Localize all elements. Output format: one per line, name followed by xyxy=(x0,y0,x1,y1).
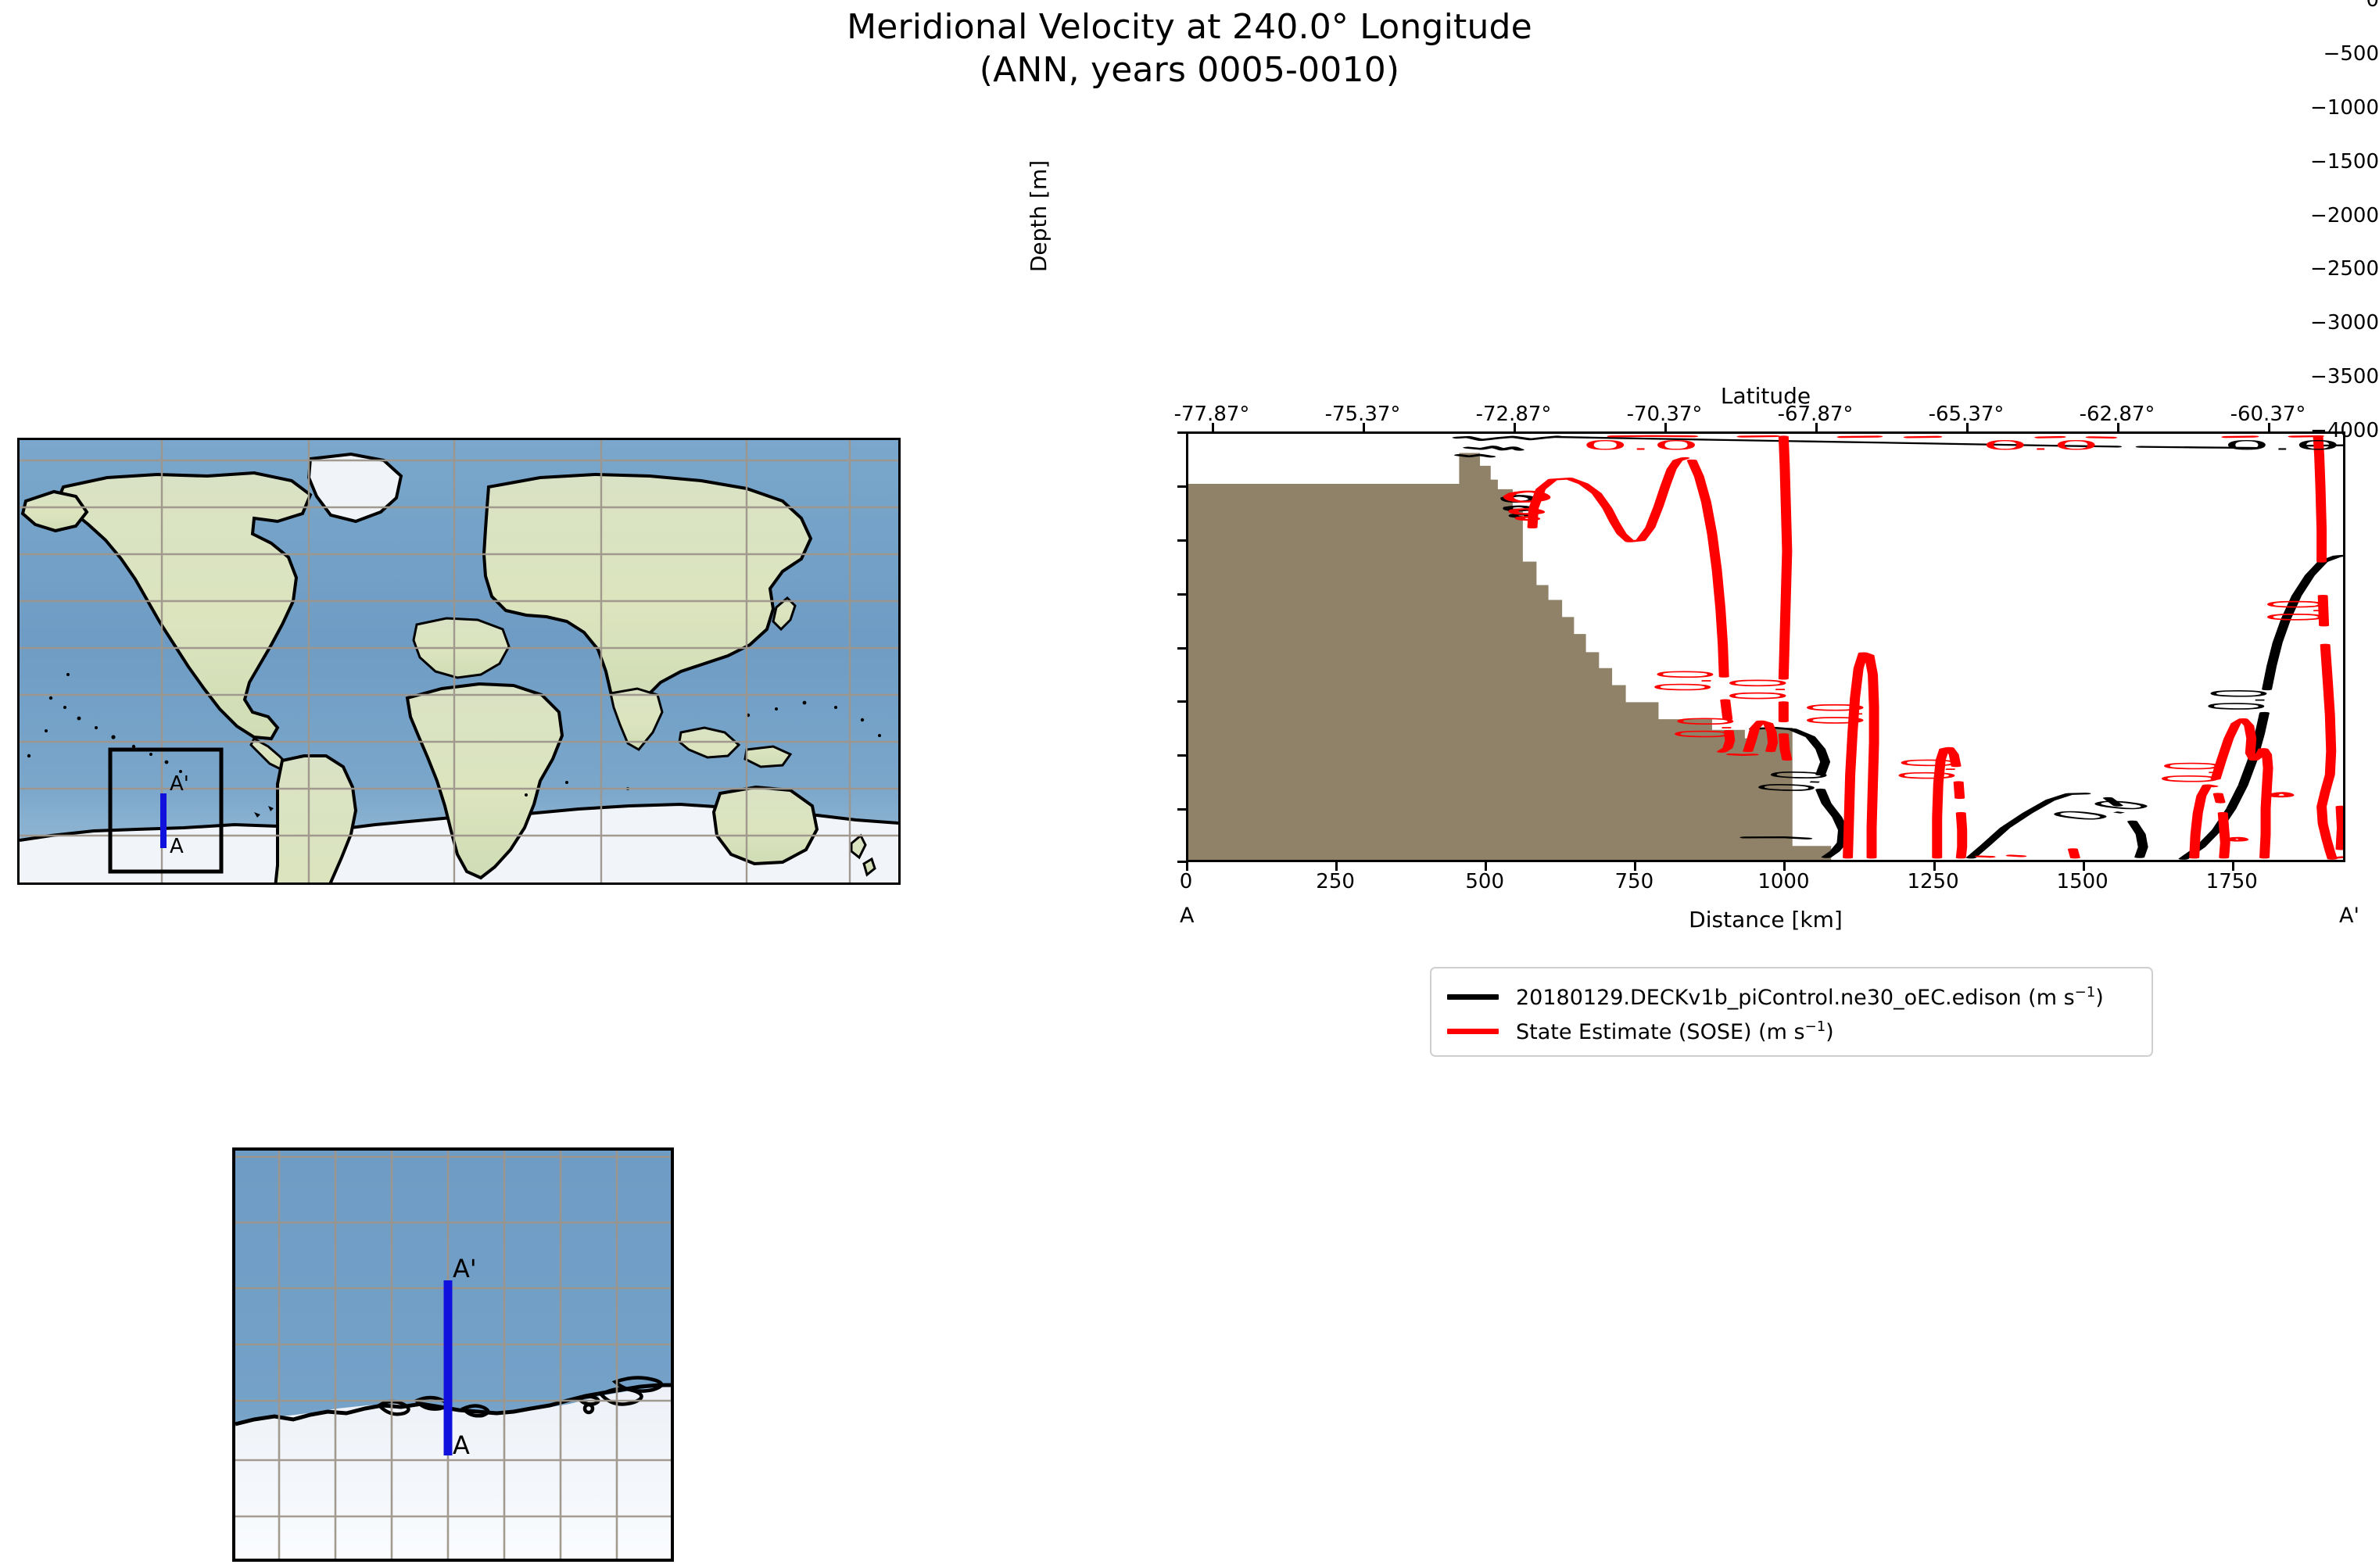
region-zoom-inset: A' A xyxy=(232,1147,674,1562)
figure-title-line2: (ANN, years 0005-0010) xyxy=(0,49,2379,92)
contour-label-00: 0.0 xyxy=(1582,438,1700,453)
contour-label-00: 0.0 xyxy=(2033,797,2172,823)
world-map-svg: A' A xyxy=(20,440,898,882)
distance-tick-label: 0 xyxy=(1180,870,1193,893)
latitude-tick-labels: -77.87°-75.37°-72.87°-70.37°-67.87°-65.3… xyxy=(1186,403,2345,429)
distance-tick-label: 750 xyxy=(1614,870,1653,893)
figure-title: Meridional Velocity at 240.0° Longitude … xyxy=(0,6,2379,91)
y-tick-mark xyxy=(1177,647,1186,650)
y-tick-mark xyxy=(1177,861,1186,863)
latitude-tick-label: -67.87° xyxy=(1778,403,1854,426)
depth-tick-label: −1500 xyxy=(2310,150,2379,174)
transect-label-Aprime-region: A' xyxy=(453,1254,477,1283)
latitude-tick-label: -75.37° xyxy=(1325,403,1401,426)
australia xyxy=(714,787,817,864)
contour-label-00: 0.0 xyxy=(2148,761,2238,783)
contour-label-00: 0.0 xyxy=(1795,703,1881,725)
legend-box: 20180129.DECKv1b_piControl.ne30_oEC.edis… xyxy=(1430,967,2153,1057)
transect-endpoint-start: A xyxy=(1180,904,1194,928)
y-tick-mark xyxy=(1177,593,1186,596)
figure-title-line1: Meridional Velocity at 240.0° Longitude xyxy=(0,6,2379,49)
latitude-tick-label: -70.37° xyxy=(1627,403,1703,426)
latitude-tick-label: -72.87° xyxy=(1476,403,1552,426)
legend-entry-model: 20180129.DECKv1b_piControl.ne30_oEC.edis… xyxy=(1447,979,2136,1014)
distance-axis-title: Distance [km] xyxy=(1186,907,2345,933)
depth-tick-label: −3000 xyxy=(2310,311,2379,335)
legend-entry-sose: State Estimate (SOSE) (m s−1) xyxy=(1447,1014,2136,1048)
y-tick-mark xyxy=(1177,431,1186,434)
contour-label-00: 0.0 xyxy=(1718,678,1804,700)
distance-tick-label: 250 xyxy=(1316,870,1355,893)
contour-label-00: 0.0 xyxy=(2195,689,2285,711)
y-tick-mark xyxy=(1177,754,1186,757)
latitude-tick-label: -60.37° xyxy=(2230,403,2306,426)
depth-tick-label: 0 xyxy=(2366,0,2379,12)
depth-tick-label: −1000 xyxy=(2310,96,2379,120)
y-tick-mark xyxy=(1177,485,1186,488)
legend-swatch-sose xyxy=(1447,1029,1499,1034)
transect-endpoint-end: A' xyxy=(2339,904,2359,928)
latitude-tick-label: -62.87° xyxy=(2080,403,2155,426)
y-tick-mark xyxy=(1177,808,1186,811)
distance-tick-label: 1250 xyxy=(1907,870,1958,893)
contour-label-00: 0.0 xyxy=(1982,438,2100,453)
latitude-tick-label: -77.87° xyxy=(1174,403,1250,426)
distance-tick-label: 1000 xyxy=(1757,870,1809,893)
y-tick-mark xyxy=(1177,700,1186,703)
contour-label-00: 0.0 xyxy=(2255,600,2341,621)
depth-tick-label: −4000 xyxy=(2310,419,2379,442)
transect-label-A-world: A xyxy=(170,835,184,858)
contour-label-00: 0.0 xyxy=(1661,717,1751,739)
legend-label-sose: State Estimate (SOSE) (m s−1) xyxy=(1516,1018,1834,1044)
region-map-svg: A' A xyxy=(235,1151,671,1559)
world-map-inset: A' A xyxy=(17,438,901,885)
legend-label-model: 20180129.DECKv1b_piControl.ne30_oEC.edis… xyxy=(1516,984,2104,1010)
latitude-tick-label: -65.37° xyxy=(1929,403,2005,426)
distance-tick-labels: 02505007501000125015001750 xyxy=(1186,870,2345,897)
distance-tick-label: 500 xyxy=(1465,870,1504,893)
depth-axis-title: Depth [m] xyxy=(1026,1,1052,431)
bathymetry-fill xyxy=(1188,453,1831,860)
depth-tick-label: −2500 xyxy=(2310,257,2379,281)
cross-section-panel: 0.0 0.0 0.0 0.0 0.0 0.0 0.0 0.0 0.0 0.0 … xyxy=(1186,431,2345,862)
transect-label-Aprime-world: A' xyxy=(170,772,189,796)
contour-label-00: 0.0 xyxy=(1886,758,1976,780)
cross-section-svg: 0.0 0.0 0.0 0.0 0.0 0.0 0.0 0.0 0.0 0.0 … xyxy=(1188,434,2343,860)
depth-tick-label: −3500 xyxy=(2310,365,2379,388)
distance-tick-label: 1500 xyxy=(2057,870,2108,893)
cross-section-axes: 0.0 0.0 0.0 0.0 0.0 0.0 0.0 0.0 0.0 0.0 … xyxy=(1186,431,2345,862)
distance-tick-label: 1750 xyxy=(2206,870,2258,893)
legend-swatch-model xyxy=(1447,994,1499,1000)
depth-tick-label: −2000 xyxy=(2310,204,2379,227)
transect-label-A-region: A xyxy=(453,1430,470,1460)
depth-tick-label: −500 xyxy=(2323,42,2379,66)
y-tick-mark xyxy=(1177,539,1186,542)
